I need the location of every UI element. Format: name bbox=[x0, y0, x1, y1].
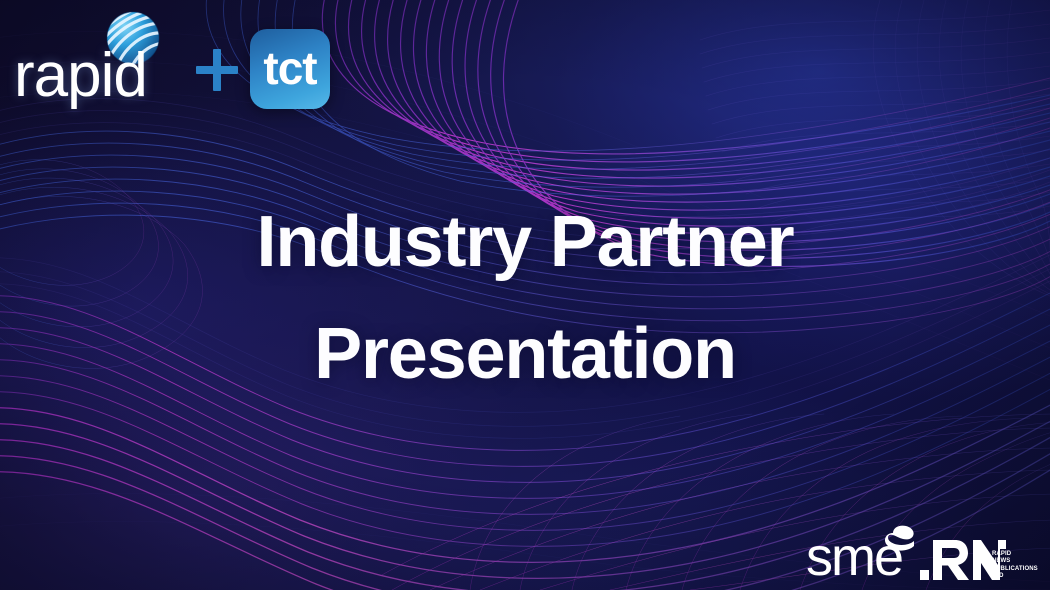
tct-logo: tct bbox=[250, 29, 330, 109]
title-line-2: Presentation bbox=[0, 298, 1050, 410]
rapid-wordmark: rapid bbox=[14, 45, 147, 107]
sme-swoosh-icon bbox=[884, 524, 918, 554]
sme-logo: sme bbox=[806, 522, 918, 584]
tct-wordmark: tct bbox=[263, 45, 316, 91]
rn-tagline-line-3: PUBLICATIONS LTD bbox=[992, 566, 1040, 580]
presentation-slide: rapid tct Industry Partner Presentation … bbox=[0, 0, 1050, 590]
brand-logo-lockup: rapid tct bbox=[14, 6, 330, 116]
rapid-logo: rapid bbox=[14, 9, 182, 113]
footer-logo-group: sme RAPID NEWS PUBLICATIONS LTD bbox=[806, 520, 1042, 584]
page-title: Industry Partner Presentation bbox=[0, 186, 1050, 410]
rn-tagline-line-1: RAPID bbox=[992, 551, 1040, 558]
title-line-1: Industry Partner bbox=[0, 186, 1050, 298]
rn-tagline-line-2: NEWS bbox=[992, 558, 1040, 565]
plus-separator-icon bbox=[194, 47, 240, 93]
rn-tagline: RAPID NEWS PUBLICATIONS LTD bbox=[992, 551, 1040, 580]
rapid-news-publications-logo: RAPID NEWS PUBLICATIONS LTD bbox=[920, 526, 1042, 584]
